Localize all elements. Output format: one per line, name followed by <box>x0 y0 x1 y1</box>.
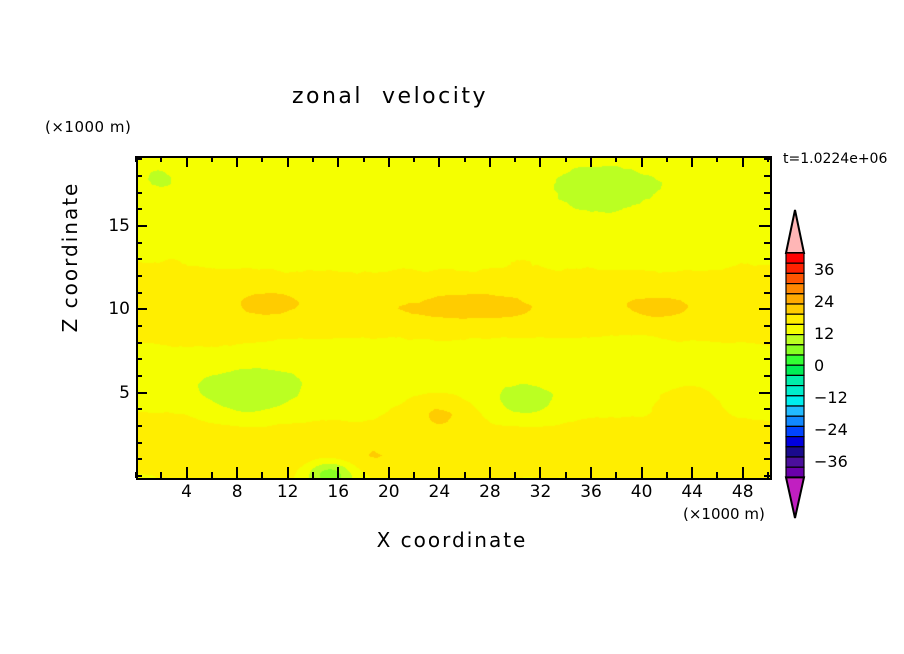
y-axis-tick <box>764 175 770 177</box>
x-axis-tick <box>716 472 718 478</box>
y-axis-tick <box>764 442 770 444</box>
x-tick-label: 36 <box>571 482 611 502</box>
colorbar-band <box>786 437 804 447</box>
x-axis-tick <box>691 467 693 478</box>
colorbar-band <box>786 447 804 457</box>
x-axis-tick <box>388 156 390 167</box>
colorbar-band <box>786 335 804 345</box>
x-axis-tick <box>211 472 213 478</box>
y-axis-tick <box>136 375 142 377</box>
x-tick-label: 4 <box>167 482 207 502</box>
x-axis-tick <box>287 156 289 167</box>
y-axis-tick <box>136 225 147 227</box>
colorbar-tick-label: −36 <box>814 452 848 471</box>
x-axis-tick <box>489 156 491 167</box>
x-axis-tick <box>514 156 516 162</box>
x-axis-unit-label: (×1000 m) <box>683 505 765 523</box>
x-axis-tick <box>641 156 643 167</box>
x-tick-label: 32 <box>520 482 560 502</box>
x-axis-tick <box>641 467 643 478</box>
time-annotation: t=1.0224e+06 <box>783 151 887 167</box>
x-axis-tick <box>565 156 567 162</box>
x-axis-tick <box>413 472 415 478</box>
colorbar <box>784 208 806 520</box>
y-axis-tick <box>759 392 770 394</box>
x-axis-tick <box>716 156 718 162</box>
x-axis-tick <box>565 472 567 478</box>
x-axis-tick <box>742 156 744 167</box>
x-axis-tick <box>363 156 365 162</box>
colorbar-band <box>786 345 804 355</box>
colorbar-band <box>786 396 804 406</box>
colorbar-band <box>786 314 804 324</box>
colorbar-tick-label: −24 <box>814 420 848 439</box>
x-axis-title: X coordinate <box>136 528 768 552</box>
colorbar-band <box>786 263 804 273</box>
y-axis-tick <box>136 208 142 210</box>
x-axis-tick <box>590 156 592 167</box>
y-axis-title: Z coordinate <box>58 157 82 357</box>
colorbar-band <box>786 253 804 263</box>
y-axis-tick <box>136 175 142 177</box>
x-axis-tick <box>666 472 668 478</box>
x-axis-tick <box>590 467 592 478</box>
y-axis-tick <box>136 442 142 444</box>
colorbar-band <box>786 416 804 426</box>
x-axis-tick <box>160 156 162 162</box>
colorbar-tick-label: 12 <box>814 324 834 343</box>
y-axis-tick <box>764 325 770 327</box>
y-axis-tick <box>136 425 142 427</box>
x-axis-tick <box>261 472 263 478</box>
y-axis-tick <box>764 208 770 210</box>
x-axis-tick <box>186 467 188 478</box>
y-axis-tick <box>764 425 770 427</box>
x-axis-tick <box>236 467 238 478</box>
x-tick-label: 28 <box>470 482 510 502</box>
x-axis-tick <box>691 156 693 167</box>
x-axis-tick <box>539 467 541 478</box>
y-axis-tick <box>136 392 147 394</box>
x-axis-tick <box>211 156 213 162</box>
y-axis-tick <box>764 242 770 244</box>
y-axis-tick <box>764 475 770 477</box>
colorbar-over-arrow <box>786 210 804 253</box>
x-axis-tick <box>615 472 617 478</box>
contour-field-canvas <box>138 158 770 478</box>
colorbar-band <box>786 355 804 365</box>
colorbar-band <box>786 406 804 416</box>
colorbar-band <box>786 365 804 375</box>
y-axis-tick <box>764 342 770 344</box>
y-axis-tick <box>764 358 770 360</box>
x-axis-tick <box>160 472 162 478</box>
x-axis-tick <box>186 156 188 167</box>
x-axis-tick <box>489 467 491 478</box>
colorbar-band <box>786 375 804 385</box>
x-axis-tick <box>514 472 516 478</box>
y-axis-tick <box>764 158 770 160</box>
colorbar-band <box>786 304 804 314</box>
x-tick-label: 20 <box>369 482 409 502</box>
y-axis-tick <box>136 292 142 294</box>
colorbar-tick-label: 24 <box>814 292 834 311</box>
colorbar-tick-label: 0 <box>814 356 824 375</box>
colorbar-band <box>786 386 804 396</box>
x-axis-tick <box>388 467 390 478</box>
x-axis-tick <box>742 467 744 478</box>
x-axis-tick <box>539 156 541 167</box>
x-axis-tick <box>438 156 440 167</box>
x-tick-label: 48 <box>723 482 763 502</box>
x-axis-tick <box>464 156 466 162</box>
x-axis-tick <box>236 156 238 167</box>
x-tick-label: 8 <box>217 482 257 502</box>
colorbar-band <box>786 457 804 467</box>
colorbar-under-arrow <box>786 477 804 518</box>
colorbar-band <box>786 273 804 283</box>
x-tick-label: 44 <box>672 482 712 502</box>
x-axis-tick <box>312 472 314 478</box>
colorbar-band <box>786 467 804 477</box>
y-axis-tick <box>764 408 770 410</box>
y-axis-tick <box>136 408 142 410</box>
x-axis-tick <box>363 472 365 478</box>
y-axis-tick <box>136 475 142 477</box>
x-tick-label: 12 <box>268 482 308 502</box>
y-tick-label: 5 <box>100 383 130 403</box>
y-axis-tick <box>759 308 770 310</box>
y-axis-tick <box>136 192 142 194</box>
y-tick-label: 10 <box>100 299 130 319</box>
x-axis-tick <box>464 472 466 478</box>
x-axis-tick <box>337 156 339 167</box>
x-axis-tick <box>337 467 339 478</box>
y-axis-tick <box>136 325 142 327</box>
page-title: zonal velocity <box>0 84 780 109</box>
y-axis-tick <box>136 242 142 244</box>
y-axis-tick <box>764 375 770 377</box>
x-tick-label: 40 <box>622 482 662 502</box>
colorbar-tick-label: 36 <box>814 260 834 279</box>
colorbar-band <box>786 426 804 436</box>
x-axis-tick <box>413 156 415 162</box>
x-axis-tick <box>312 156 314 162</box>
y-axis-tick <box>136 308 147 310</box>
y-axis-tick <box>136 158 142 160</box>
x-axis-tick <box>261 156 263 162</box>
y-axis-unit-label: (×1000 m) <box>45 118 131 136</box>
x-axis-tick <box>438 467 440 478</box>
y-axis-tick <box>136 275 142 277</box>
x-axis-tick <box>666 156 668 162</box>
colorbar-tick-label: −12 <box>814 388 848 407</box>
colorbar-band <box>786 294 804 304</box>
y-axis-tick <box>764 192 770 194</box>
x-tick-label: 24 <box>419 482 459 502</box>
x-axis-tick <box>287 467 289 478</box>
x-tick-label: 16 <box>318 482 358 502</box>
y-axis-tick <box>136 258 142 260</box>
y-axis-tick <box>136 342 142 344</box>
y-axis-tick <box>136 358 142 360</box>
y-tick-label: 15 <box>100 216 130 236</box>
colorbar-band <box>786 324 804 334</box>
colorbar-band <box>786 284 804 294</box>
y-axis-tick <box>764 275 770 277</box>
plot-area <box>136 156 772 480</box>
y-axis-tick <box>136 458 142 460</box>
y-axis-tick <box>764 458 770 460</box>
y-axis-tick <box>764 258 770 260</box>
colorbar-svg <box>784 208 806 520</box>
y-axis-tick <box>759 225 770 227</box>
x-axis-tick <box>615 156 617 162</box>
y-axis-tick <box>764 292 770 294</box>
